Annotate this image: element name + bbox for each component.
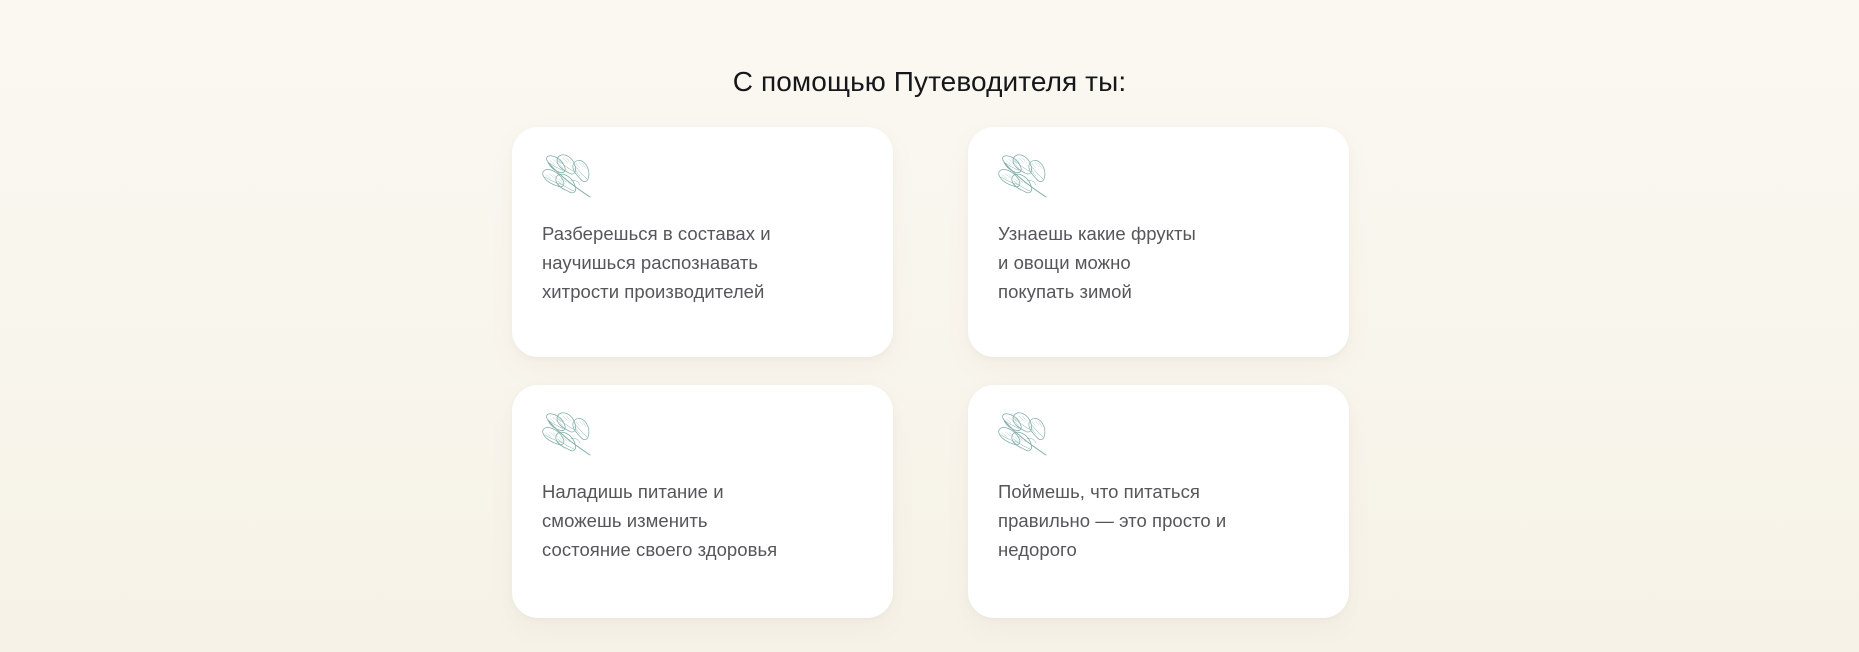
benefits-card-grid: Разберешься в составах и научишься распо… — [512, 127, 1343, 618]
leaf-sprig-icon — [542, 411, 592, 458]
leaf-sprig-icon — [998, 153, 1048, 200]
benefit-card: Узнаешь какие фрукты и овощи можно покуп… — [968, 127, 1349, 357]
benefit-card-text: Узнаешь какие фрукты и овощи можно покуп… — [998, 219, 1319, 306]
leaf-sprig-icon — [998, 411, 1048, 458]
benefit-card: Разберешься в составах и научишься распо… — [512, 127, 893, 357]
benefit-card: Наладишь питание и сможешь изменить сост… — [512, 385, 893, 618]
benefit-card-text: Наладишь питание и сможешь изменить сост… — [542, 477, 863, 564]
benefit-card: Поймешь, что питаться правильно — это пр… — [968, 385, 1349, 618]
benefit-card-text: Разберешься в составах и научишься распо… — [542, 219, 863, 306]
page-title: С помощью Путеводителя ты: — [0, 63, 1859, 101]
benefits-section: С помощью Путеводителя ты: — [0, 0, 1859, 652]
benefit-card-text: Поймешь, что питаться правильно — это пр… — [998, 477, 1319, 564]
leaf-sprig-icon — [542, 153, 592, 200]
